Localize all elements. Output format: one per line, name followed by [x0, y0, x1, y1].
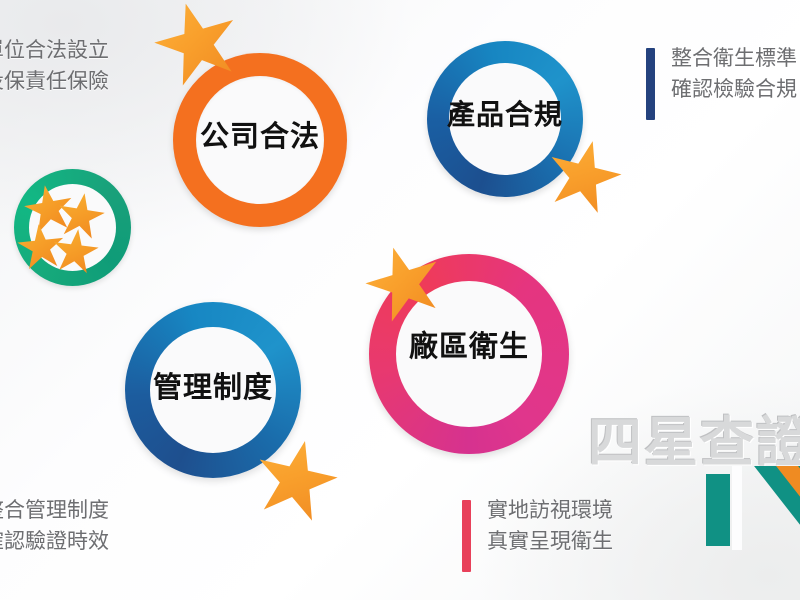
caption-hygiene-line-2: 真實呈現衛生: [487, 531, 613, 552]
caption-company-line-1: 單位合法設立: [0, 40, 109, 61]
slide-canvas: 公司合法 產品合規 管理制度 廠區衛生 單位合法設立 投保責任保險 整合衛生標準…: [0, 0, 800, 600]
caption-company-legal: 單位合法設立 投保責任保險: [0, 40, 109, 112]
caption-product-compliance: 整合衛生標準 確認檢驗合規: [646, 48, 797, 120]
ring-product-label: 產品合規: [427, 93, 583, 133]
caption-hygiene-bar: [462, 500, 471, 572]
caption-product-bar: [646, 48, 655, 120]
ring-company-legal[interactable]: 公司合法: [173, 53, 347, 227]
caption-management-line-1: 整合管理制度: [0, 500, 109, 521]
caption-company-line-2: 投保責任保險: [0, 71, 109, 92]
ring-product-compliance[interactable]: 產品合規: [427, 41, 583, 197]
caption-product-line-1: 整合衛生標準: [671, 48, 797, 69]
caption-management-system: 整合管理制度 確認驗證時效: [0, 500, 109, 572]
caption-hygiene-line-1: 實地訪視環境: [487, 500, 613, 521]
brand-logo-icon: [706, 466, 800, 550]
caption-management-line-2: 確認驗證時效: [0, 531, 109, 552]
ring-management-system[interactable]: 管理制度: [125, 302, 301, 478]
ring-hygiene-label: 廠區衛生: [369, 323, 569, 365]
ring-management-label: 管理制度: [125, 364, 301, 406]
logo-vertical-bar: [706, 474, 730, 546]
logo-gap-mask: [732, 466, 742, 550]
ring-company-label: 公司合法: [173, 113, 347, 155]
caption-plant-hygiene: 實地訪視環境 真實呈現衛生: [462, 500, 613, 572]
caption-product-line-2: 確認檢驗合規: [671, 79, 797, 100]
